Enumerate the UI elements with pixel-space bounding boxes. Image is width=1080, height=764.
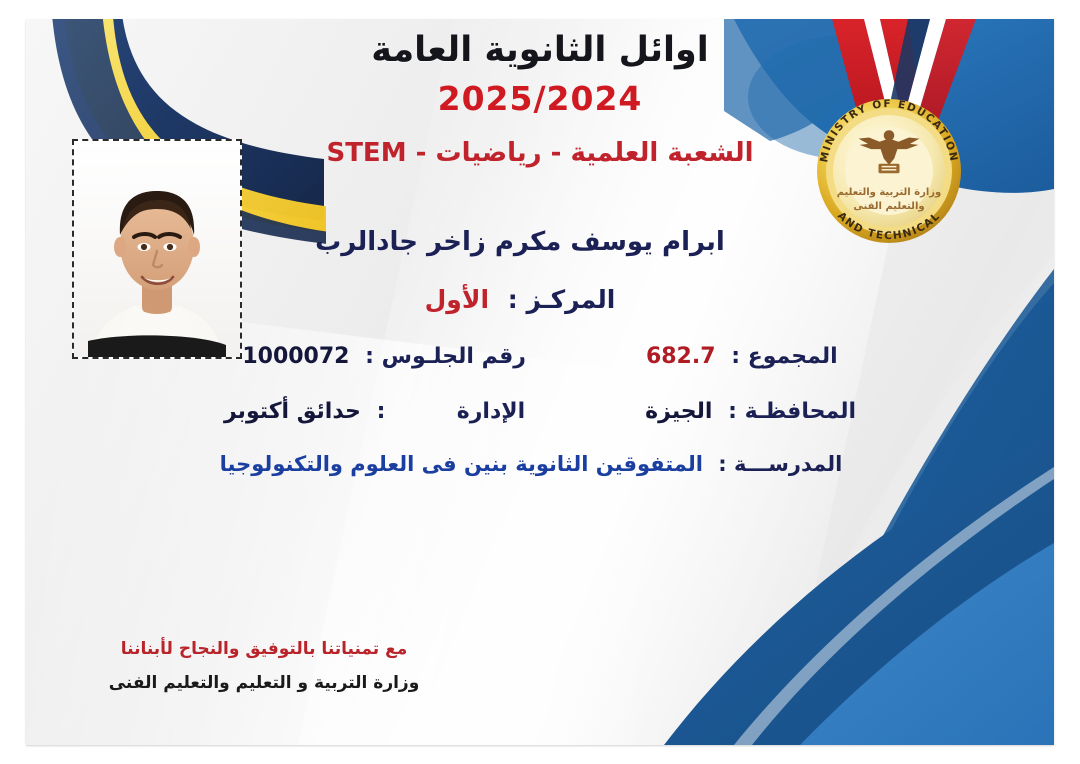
- total-value: 682.7: [646, 344, 716, 369]
- administration-value: حدائق أكتوبر: [224, 399, 361, 424]
- total-label: المجموع: [748, 344, 838, 369]
- footer-ministry: وزارة التربية و التعليم والتعليم الفنى: [84, 673, 444, 693]
- svg-text:وزارة التربية والتعليم: وزارة التربية والتعليم: [837, 187, 942, 198]
- rank-label: المركـز: [526, 285, 615, 314]
- total-seat-row: المجموع : 682.7 رقم الجلـوس : 1000072: [26, 344, 1054, 369]
- svg-text:والتعليم الفنى: والتعليم الفنى: [853, 201, 924, 212]
- school-row: المدرســـة : المتفوقين الثانوية بنين فى …: [26, 452, 1036, 476]
- administration-label: الإدارة: [457, 399, 525, 424]
- rank-value: الأول: [425, 285, 489, 314]
- academic-year: 2025/2024: [26, 79, 1054, 118]
- administration-colon: :: [377, 399, 386, 424]
- governorate-label: المحافظـة: [745, 399, 856, 424]
- school-value: المتفوقين الثانوية بنين فى العلوم والتكن…: [220, 452, 703, 476]
- seat-label: رقم الجلـوس: [382, 344, 526, 369]
- student-name: ابرام يوسف مكرم زاخر جادالرب: [26, 227, 1014, 257]
- governorate-value: الجيزة: [645, 399, 712, 424]
- rank-colon: :: [508, 285, 518, 314]
- school-label: المدرســـة: [734, 452, 842, 476]
- seat-colon: :: [365, 344, 374, 369]
- rank-row: المركـز : الأول: [26, 285, 1014, 314]
- governorate-administration-row: المحافظـة : الجيزة الإدارة : حدائق أكتوب…: [26, 399, 1054, 424]
- footer-wish: مع تمنياتنا بالتوفيق والنجاح لأبناننا: [84, 639, 444, 659]
- seat-cell: رقم الجلـوس : 1000072: [242, 344, 526, 369]
- school-colon: :: [718, 452, 726, 476]
- total-cell: المجموع : 682.7: [646, 344, 838, 369]
- administration-cell: الإدارة : حدائق أكتوبر: [224, 399, 525, 424]
- seat-value: 1000072: [242, 344, 349, 369]
- certificate-card: وزارة التربية والتعليم والتعليم الفنى MI…: [26, 19, 1054, 745]
- page-title: اوائل الثانوية العامة: [26, 29, 1054, 73]
- student-info-block: ابرام يوسف مكرم زاخر جادالرب المركـز : ا…: [26, 215, 1054, 476]
- certificate-footer: مع تمنياتنا بالتوفيق والنجاح لأبناننا وز…: [84, 639, 444, 693]
- governorate-colon: :: [728, 399, 737, 424]
- governorate-cell: المحافظـة : الجيزة: [645, 399, 856, 424]
- total-colon: :: [731, 344, 740, 369]
